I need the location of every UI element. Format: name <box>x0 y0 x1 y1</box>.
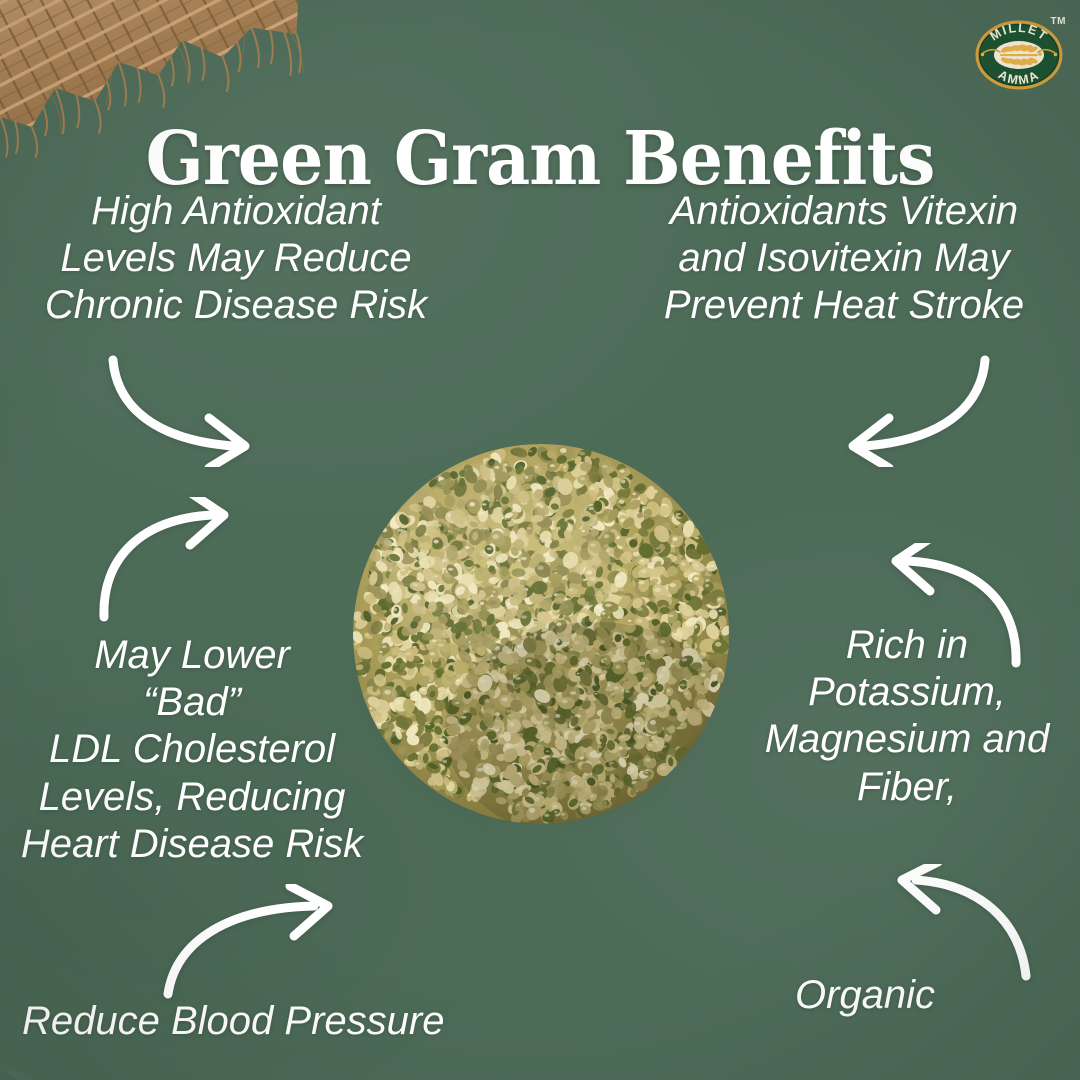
split-green-gram-pile-icon <box>345 432 737 832</box>
curved-arrow-icon <box>92 497 252 622</box>
infographic-poster: MILLET AMMA TM Green Gram Benefits High … <box>0 0 1080 1080</box>
curved-arrow-icon <box>886 864 1036 984</box>
benefit-text-blood-pressure: Reduce Blood Pressure <box>22 998 492 1045</box>
arrow-to-center-bottom-left <box>158 884 353 999</box>
trademark-symbol: TM <box>1051 16 1066 27</box>
page-title: Green Gram Benefits <box>43 122 1037 196</box>
arrow-to-center-upper-left <box>105 352 270 467</box>
curved-arrow-icon <box>158 884 353 999</box>
arrow-to-center-lower-left <box>92 497 252 622</box>
benefit-text-vitexin-heat-stroke: Antioxidants Vitexin and Isovitexin May … <box>634 188 1054 330</box>
curved-arrow-icon <box>828 352 993 467</box>
benefit-text-organic: Organic <box>750 972 980 1019</box>
curved-arrow-icon <box>105 352 270 467</box>
green-gram-photo <box>345 432 737 832</box>
arrow-to-center-bottom-right <box>886 864 1036 984</box>
benefit-text-ldl-cholesterol: May Lower “Bad” LDL Cholesterol Levels, … <box>4 632 380 868</box>
benefit-text-potassium-magnesium-fiber: Rich in Potassium, Magnesium and Fiber, <box>742 622 1072 811</box>
benefit-text-antioxidant-chronic-disease: High Antioxidant Levels May Reduce Chron… <box>26 188 446 330</box>
millet-amma-logo[interactable]: MILLET AMMA TM <box>970 10 1068 92</box>
arrow-to-center-upper-right <box>828 352 993 467</box>
